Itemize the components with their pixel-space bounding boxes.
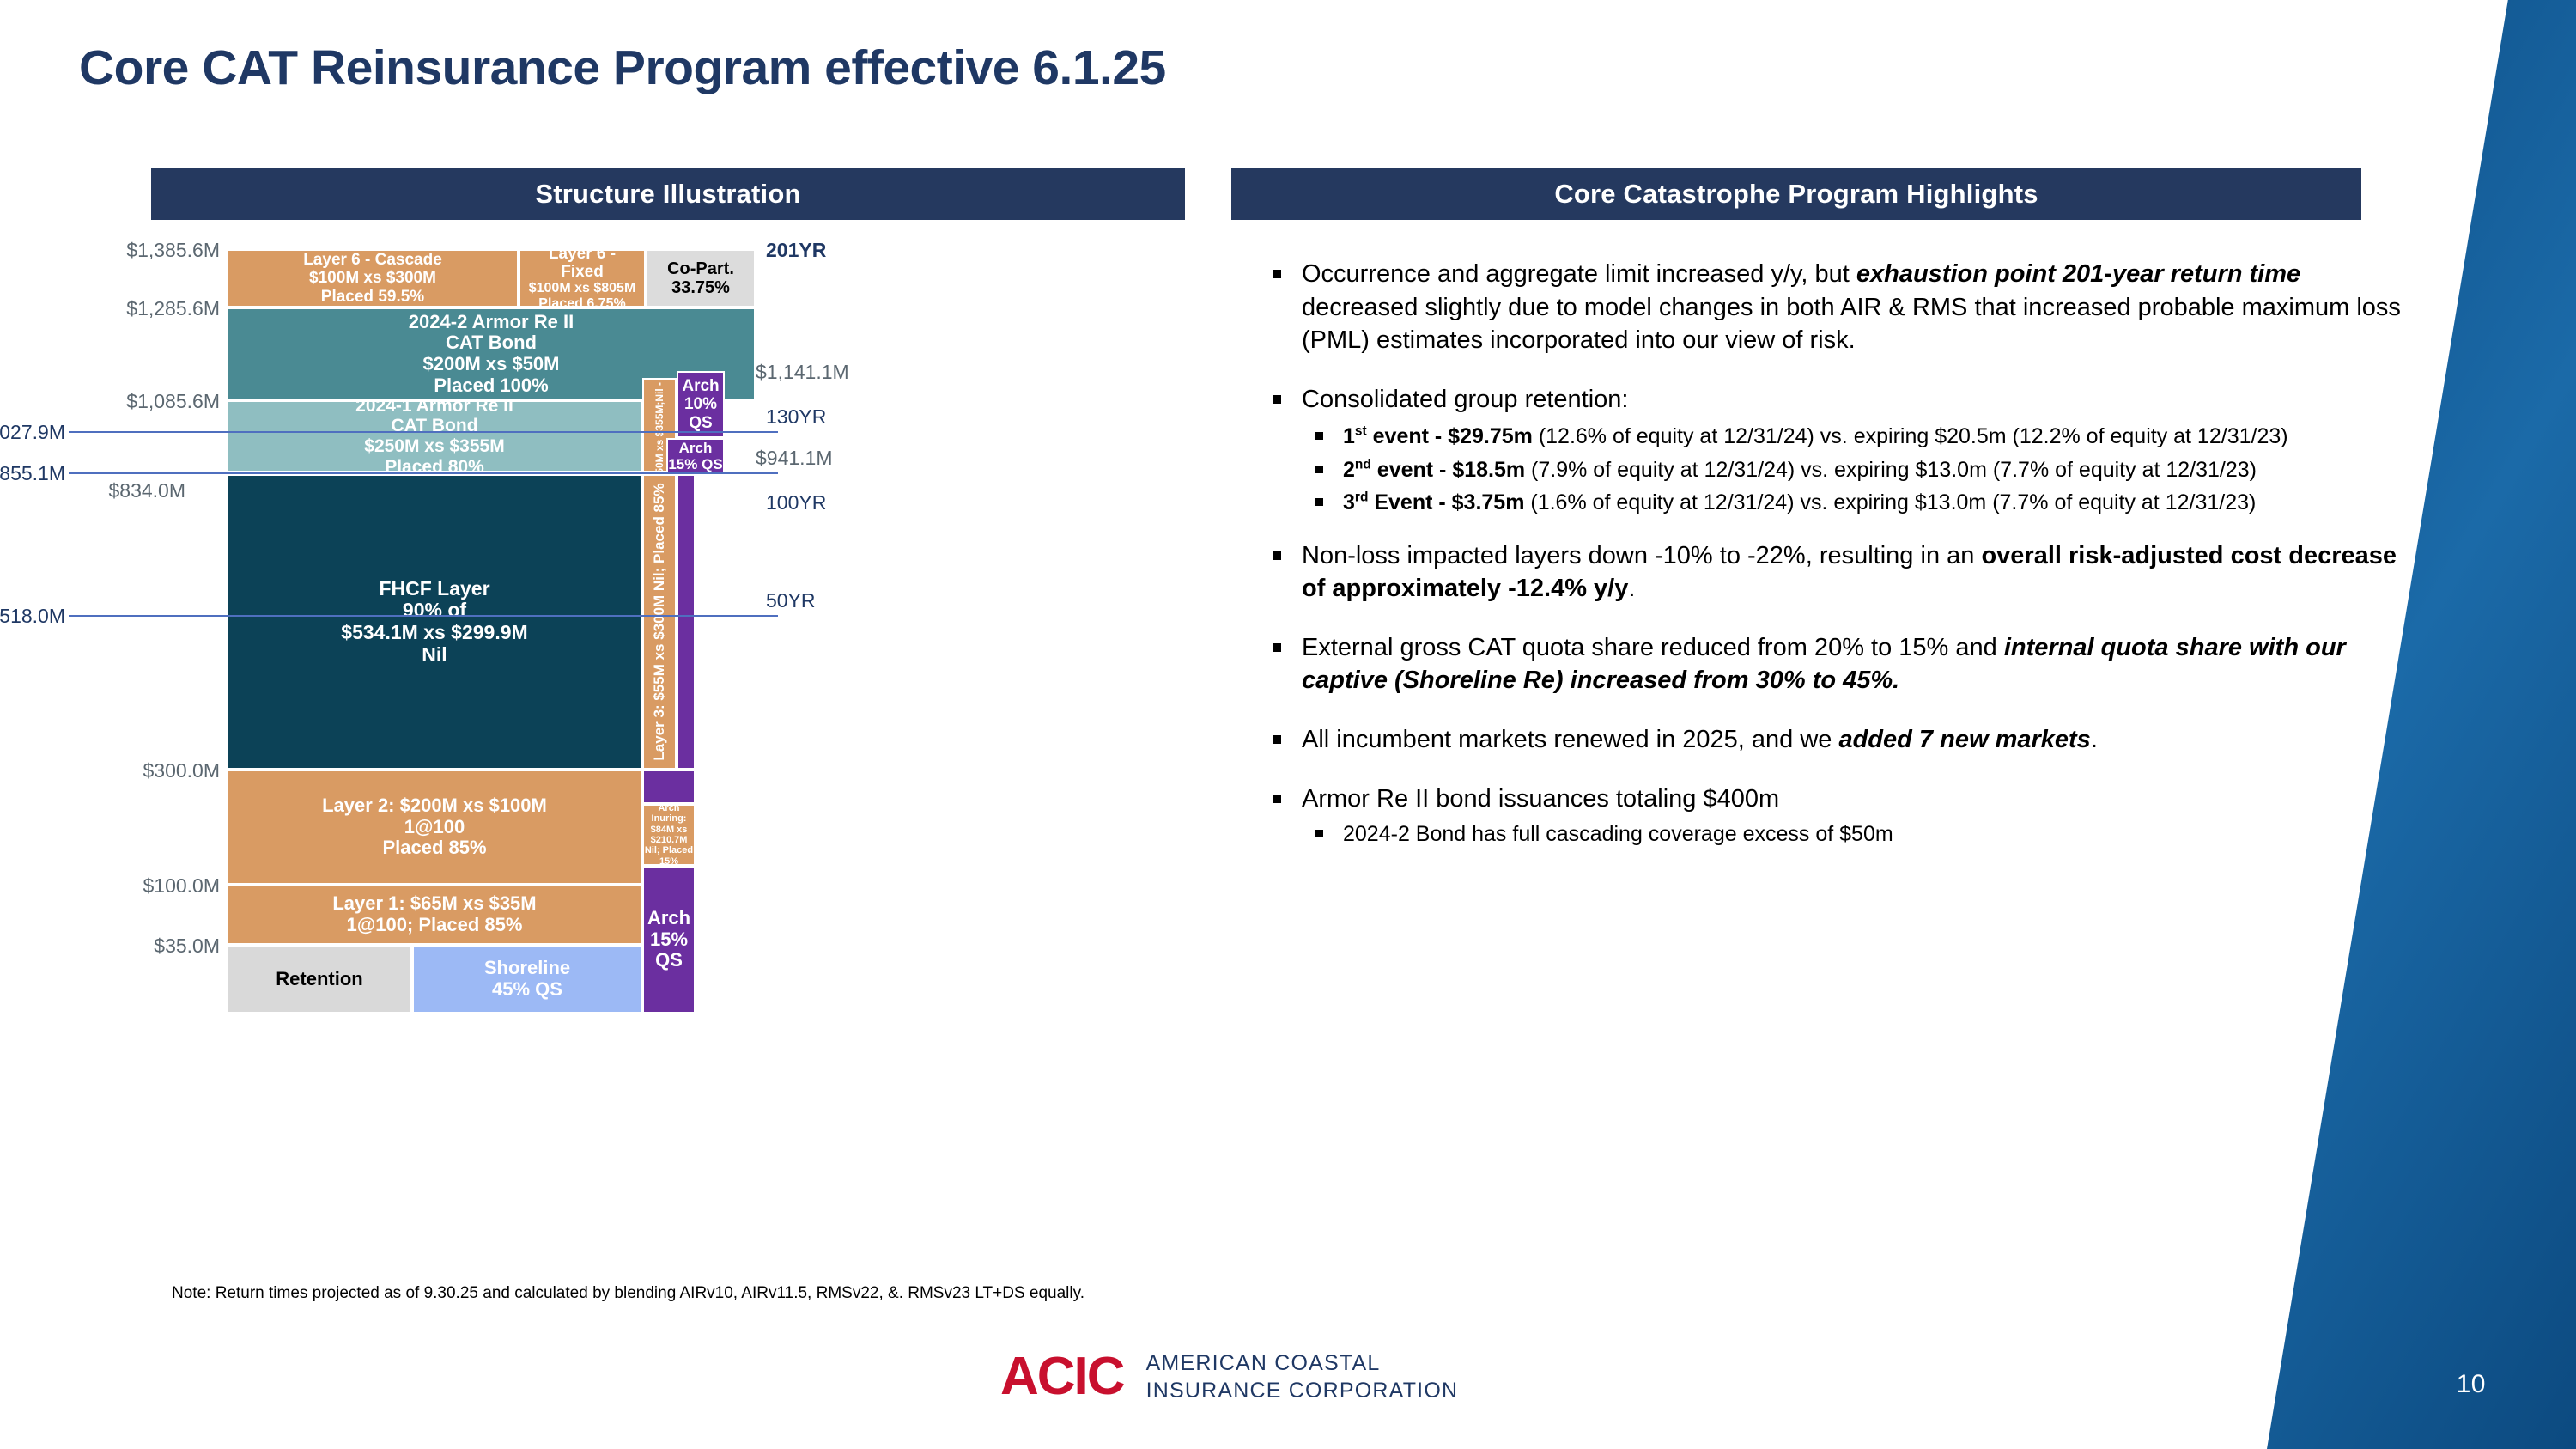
connector-130yr [677, 431, 778, 433]
label-50yr: 50YR [766, 589, 816, 612]
bullet-group-retention: Consolidated group retention: [1262, 383, 2404, 417]
copart-line1: Co-Part. [667, 259, 734, 278]
shoreline-line2: 45% QS [492, 979, 562, 1001]
ar2-line4: Placed 100% [434, 375, 548, 397]
l6f-line4: Placed 6.75% [538, 296, 625, 307]
arch15l-line2: 15% [650, 929, 688, 951]
connector-518 [69, 615, 692, 617]
label-130yr: 130YR [766, 405, 826, 429]
copart-line2: 33.75% [671, 278, 730, 297]
layer4-label: Layer 4: $250M xs $355M;Nil - Placed 10% [653, 378, 665, 472]
b2-2-sup: nd [1355, 457, 1371, 472]
program-highlights-list: Occurrence and aggregate limit increased… [1262, 258, 2404, 854]
bullet-non-loss-layers: Non-loss impacted layers down -10% to -2… [1262, 539, 2404, 606]
sub-bullet-cascading-coverage: 2024-2 Bond has full cascading coverage … [1302, 820, 2404, 849]
block-shoreline: Shoreline 45% QS [412, 945, 642, 1014]
block-layer-2: Layer 2: $200M xs $100M 1@100 Placed 85% [227, 770, 642, 885]
b2-3-rest: (1.6% of equity at 12/31/24) vs. expirin… [1524, 490, 2256, 514]
bullet-occurrence-limit: Occurrence and aggregate limit increased… [1262, 258, 2404, 357]
b1-post: decreased slightly due to model changes … [1302, 294, 2401, 355]
b2-1-bold-a: 1 [1343, 424, 1355, 448]
ai-line1: Arch Inuring: [644, 804, 694, 825]
b2-3-bold-b: Event - $3.75m [1368, 490, 1524, 514]
block-layer-3: Layer 3: $55M xs $300M Nil; Placed 85% [642, 474, 677, 770]
block-retention: Retention [227, 945, 412, 1014]
connector-855 [69, 472, 692, 474]
ar2-line2: CAT Bond [446, 332, 537, 354]
arch10-line2: 10% [684, 395, 717, 413]
l6f-line1: Layer 6 - [549, 249, 616, 263]
b2-1-bold-b: event - $29.75m [1367, 424, 1533, 448]
acic-logo-mark: ACIC [1000, 1350, 1124, 1403]
axis-label-518: $518.0M [0, 605, 65, 628]
retention-sublist: 1st event - $29.75m (12.6% of equity at … [1262, 423, 2404, 517]
b6-sub: 2024-2 Bond has full cascading coverage … [1343, 822, 1893, 846]
l1-line2: 1@100; Placed 85% [347, 915, 523, 936]
l6c-line1: Layer 6 - Cascade [303, 251, 442, 269]
block-arch-15-qs-lower: Arch 15% QS [642, 866, 696, 1014]
layer3-label: Layer 3: $55M xs $300M Nil; Placed 85% [651, 483, 668, 760]
b2-3-sup: rd [1355, 490, 1369, 505]
page-title: Core CAT Reinsurance Program effective 6… [79, 40, 1166, 96]
b1-emphasis: exhaustion point 201-year return time [1856, 260, 2300, 288]
label-941: $941.1M [756, 447, 833, 470]
ar2-line1: 2024-2 Armor Re II [409, 312, 574, 333]
label-1141: $1,141.1M [756, 361, 849, 384]
l2-line3: Placed 85% [382, 837, 486, 859]
axis-label-1027: $1,027.9M [0, 421, 65, 444]
axis-label-1085: $1,085.6M [31, 390, 220, 413]
bullet-armor-re-issuances: Armor Re II bond issuances totaling $400… [1262, 782, 2404, 816]
ar1-line4: Placed 80% [385, 457, 484, 472]
block-arch-inuring: Arch Inuring: $84M xs $210.7M Nil; Place… [642, 804, 696, 866]
axis-label-35: $35.0M [31, 935, 220, 958]
block-layer-6-cascade: Layer 6 - Cascade $100M xs $300M Placed … [227, 249, 519, 307]
b2-2-bold-a: 2 [1343, 458, 1355, 482]
b2-2-bold-b: event - $18.5m [1371, 458, 1525, 482]
axis-label-300: $300.0M [31, 759, 220, 782]
b2-heading: Consolidated group retention: [1302, 386, 1628, 413]
b4-pre: External gross CAT quota share reduced f… [1302, 634, 2004, 661]
sub-bullet-1st-event: 1st event - $29.75m (12.6% of equity at … [1302, 423, 2404, 451]
fhcf-line2: 90% of [403, 600, 466, 622]
connector-50yr [677, 615, 778, 617]
block-co-part: Co-Part. 33.75% [646, 249, 756, 307]
acic-logo-text: AMERICAN COASTAL INSURANCE CORPORATION [1146, 1349, 1459, 1404]
fhcf-line3: $534.1M xs $299.9M [341, 622, 527, 644]
connector-1027 [69, 431, 692, 433]
shoreline-line1: Shoreline [484, 958, 570, 979]
l6c-line3: Placed 59.5% [321, 288, 424, 306]
block-armor-re-2024-1: 2024-1 Armor Re II CAT Bond $250M xs $35… [227, 400, 642, 472]
label-100yr: 100YR [766, 491, 826, 514]
block-arch-10-qs: Arch 10% QS [677, 371, 725, 438]
program-highlights-header: Core Catastrophe Program Highlights [1231, 168, 2361, 220]
chart-note: Note: Return times projected as of 9.30.… [172, 1284, 1084, 1303]
b6-heading: Armor Re II bond issuances totaling $400… [1302, 785, 1779, 813]
arch10-line3: QS [689, 414, 712, 432]
block-arch-15-qs-upper: Arch 15% QS [666, 438, 725, 474]
axis-label-100: $100.0M [31, 874, 220, 898]
fhcf-line4: Nil [422, 644, 447, 667]
acic-logo-line1: AMERICAN COASTAL [1146, 1349, 1459, 1377]
ai-line4: Nil; Placed 15% [644, 845, 694, 866]
l2-line2: 1@100 [404, 817, 465, 838]
retention-label: Retention [276, 969, 362, 990]
page-number: 10 [2457, 1370, 2486, 1399]
structure-illustration-chart: Layer 6 - Cascade $100M xs $300M Placed … [151, 249, 1190, 1263]
b1-pre: Occurrence and aggregate limit increased… [1302, 260, 1856, 288]
block-layer-1: Layer 1: $65M xs $35M 1@100; Placed 85% [227, 885, 642, 945]
block-arch-qs-sliver [677, 474, 696, 770]
b2-3-bold-a: 3 [1343, 490, 1355, 514]
acic-logo: ACIC AMERICAN COASTAL INSURANCE CORPORAT… [1000, 1349, 1458, 1404]
l6f-line2: Fixed [561, 263, 604, 281]
structure-illustration-header: Structure Illustration [151, 168, 1185, 220]
b3-post: . [1628, 575, 1635, 602]
arch15l-line3: QS [655, 950, 683, 971]
arch15l-line1: Arch [647, 908, 690, 929]
axis-label-834: $834.0M [0, 479, 185, 502]
b2-1-sup: st [1355, 424, 1367, 439]
ar1-line3: $250M xs $355M [364, 436, 504, 457]
l2-line1: Layer 2: $200M xs $100M [322, 795, 547, 817]
ar1-line1: 2024-1 Armor Re II [355, 400, 513, 416]
ar1-line2: CAT Bond [391, 416, 477, 436]
block-layer-6-fixed: Layer 6 - Fixed $100M xs $805M Placed 6.… [519, 249, 646, 307]
arch10-line1: Arch [682, 377, 719, 395]
ar2-line3: $200M xs $50M [423, 354, 560, 375]
bullet-incumbent-markets: All incumbent markets renewed in 2025, a… [1262, 723, 2404, 757]
b5-post: . [2091, 726, 2098, 753]
arch15u-line1: Arch [679, 440, 713, 456]
sub-bullet-3rd-event: 3rd Event - $3.75m (1.6% of equity at 12… [1302, 489, 2404, 517]
connector-100yr [677, 472, 778, 474]
bullet-quota-share: External gross CAT quota share reduced f… [1262, 631, 2404, 697]
ai-line2: $84M xs [651, 825, 688, 835]
acic-logo-line2: INSURANCE CORPORATION [1146, 1377, 1459, 1404]
l1-line1: Layer 1: $65M xs $35M [332, 893, 536, 915]
ai-line3: $210.7M [651, 835, 688, 845]
b2-1-rest: (12.6% of equity at 12/31/24) vs. expiri… [1533, 424, 2288, 448]
block-fhcf-layer: FHCF Layer 90% of $534.1M xs $299.9M Nil [227, 474, 642, 770]
l6f-line3: $100M xs $805M [529, 281, 636, 296]
axis-label-1285: $1,285.6M [31, 297, 220, 320]
label-201yr: 201YR [766, 239, 826, 262]
b3-pre: Non-loss impacted layers down -10% to -2… [1302, 542, 1981, 569]
b5-pre: All incumbent markets renewed in 2025, a… [1302, 726, 1838, 753]
fhcf-line1: FHCF Layer [379, 578, 489, 600]
sub-bullet-2nd-event: 2nd event - $18.5m (7.9% of equity at 12… [1302, 456, 2404, 484]
block-purple-spacer-upper [642, 770, 696, 804]
arch15u-line2: 15% QS [668, 456, 722, 472]
l6c-line2: $100M xs $300M [309, 269, 436, 287]
b2-2-rest: (7.9% of equity at 12/31/24) vs. expirin… [1525, 458, 2257, 482]
b5-emphasis: added 7 new markets [1838, 726, 2090, 753]
axis-label-1385: $1,385.6M [31, 239, 220, 262]
